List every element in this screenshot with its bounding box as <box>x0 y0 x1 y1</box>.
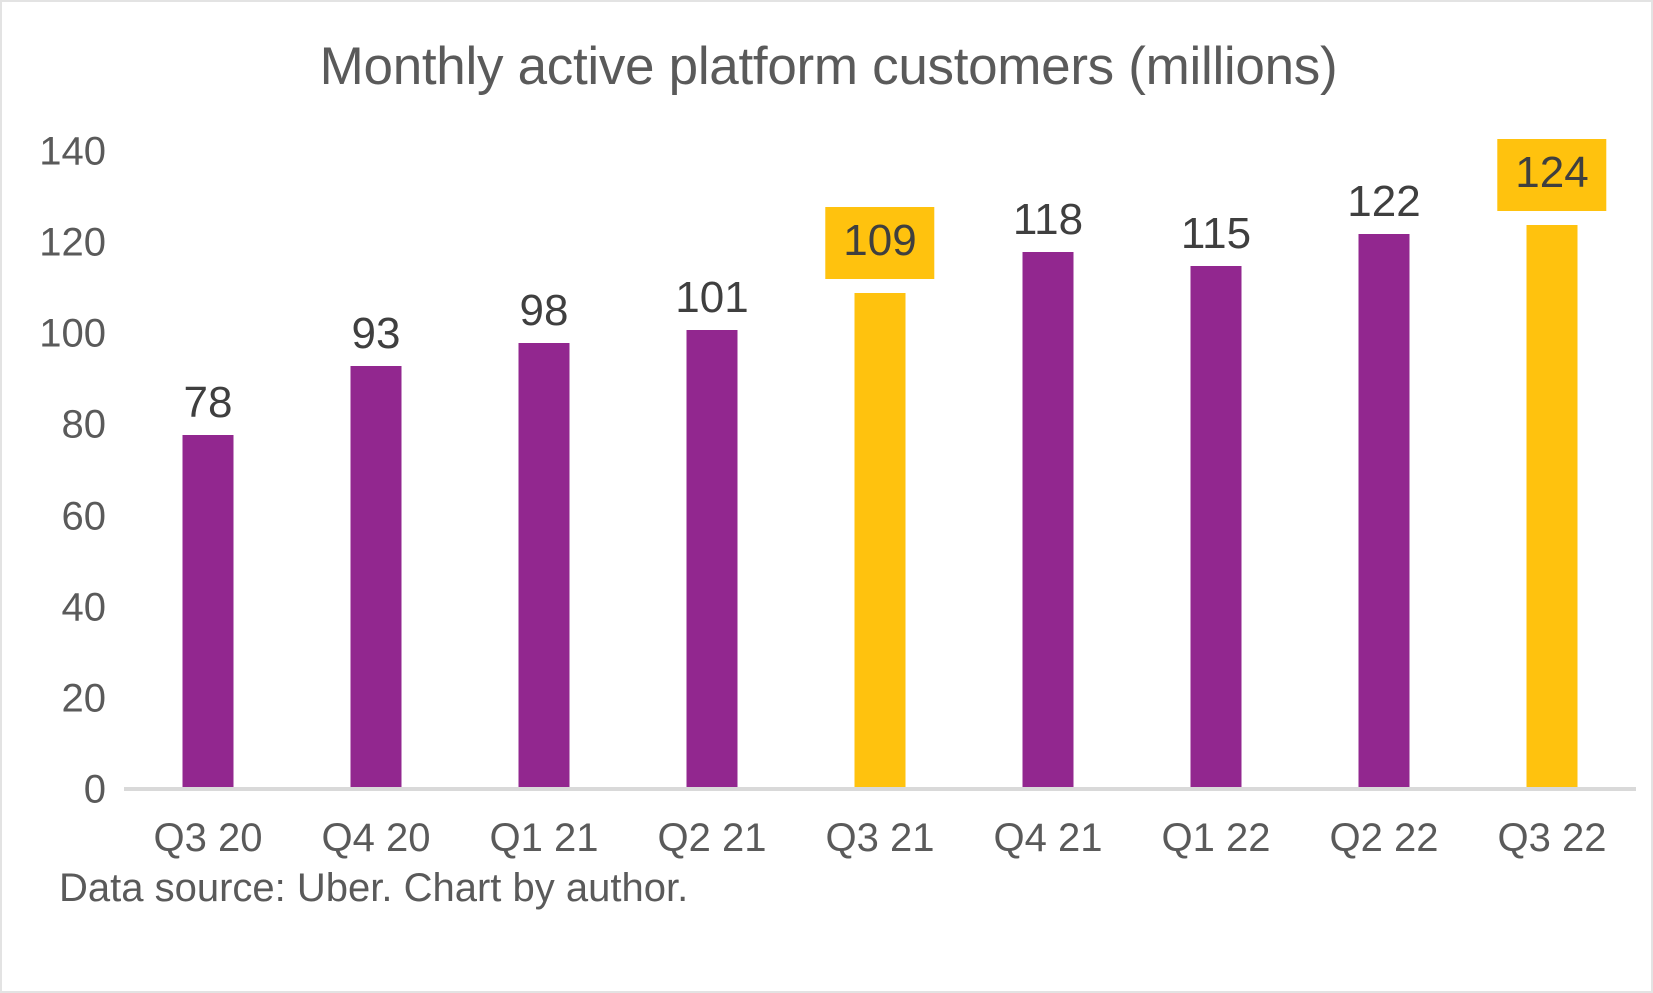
bar-value-label: 101 <box>675 276 748 320</box>
bar-group[interactable]: 78 <box>124 152 292 790</box>
bar[interactable] <box>687 330 738 790</box>
bar-highlighted[interactable] <box>855 293 906 790</box>
x-axis-tick-label: Q4 20 <box>322 816 431 861</box>
y-axis-tick-label: 60 <box>62 494 107 539</box>
x-axis-tick-label: Q4 21 <box>994 816 1103 861</box>
bar[interactable] <box>1191 266 1242 790</box>
bar-value-label: 109 <box>825 207 934 279</box>
bar[interactable] <box>1023 252 1074 790</box>
bar[interactable] <box>183 435 234 790</box>
bar-group[interactable]: 118 <box>964 152 1132 790</box>
x-axis-tick-label: Q1 22 <box>1162 816 1271 861</box>
bar-value-label: 93 <box>352 312 401 356</box>
y-axis-tick-label: 0 <box>84 768 106 813</box>
x-axis-tick-label: Q3 20 <box>154 816 263 861</box>
bar-value-label: 98 <box>520 289 569 333</box>
bar-group[interactable]: 93 <box>292 152 460 790</box>
bar-value-label: 115 <box>1181 212 1251 256</box>
y-axis-tick-label: 20 <box>62 676 107 721</box>
chart-container: Monthly active platform customers (milli… <box>0 0 1653 993</box>
x-axis-tick-label: Q1 21 <box>490 816 599 861</box>
y-axis-tick-label: 80 <box>62 403 107 448</box>
x-axis-tick-label: Q3 22 <box>1498 816 1607 861</box>
bar-group[interactable]: 109 <box>796 152 964 790</box>
bar-group[interactable]: 124 <box>1468 152 1636 790</box>
chart-title: Monthly active platform customers (milli… <box>2 36 1653 97</box>
bar-group[interactable]: 122 <box>1300 152 1468 790</box>
y-axis-tick-label: 120 <box>39 221 106 266</box>
chart-footnote: Data source: Uber. Chart by author. <box>59 866 688 911</box>
bar[interactable] <box>1359 234 1410 790</box>
x-axis-line <box>124 787 1636 791</box>
bar-group[interactable]: 98 <box>460 152 628 790</box>
x-axis-tick-label: Q3 21 <box>826 816 935 861</box>
bar-value-label: 122 <box>1347 180 1420 224</box>
y-axis-tick-label: 40 <box>62 585 107 630</box>
bar-series: 789398101109118115122124 <box>124 152 1636 790</box>
bar[interactable] <box>519 343 570 790</box>
x-axis-tick-label: Q2 22 <box>1330 816 1439 861</box>
y-axis-tick-label: 140 <box>39 130 106 175</box>
bar-value-label: 124 <box>1497 139 1606 211</box>
bar-group[interactable]: 101 <box>628 152 796 790</box>
bar-group[interactable]: 115 <box>1132 152 1300 790</box>
bar-value-label: 78 <box>184 381 233 425</box>
y-axis-tick-label: 100 <box>39 312 106 357</box>
x-axis-tick-label: Q2 21 <box>658 816 767 861</box>
plot-area: 140120100806040200 789398101109118115122… <box>124 152 1636 790</box>
bar-highlighted[interactable] <box>1527 225 1578 790</box>
bar[interactable] <box>351 366 402 790</box>
bar-value-label: 118 <box>1013 198 1083 242</box>
